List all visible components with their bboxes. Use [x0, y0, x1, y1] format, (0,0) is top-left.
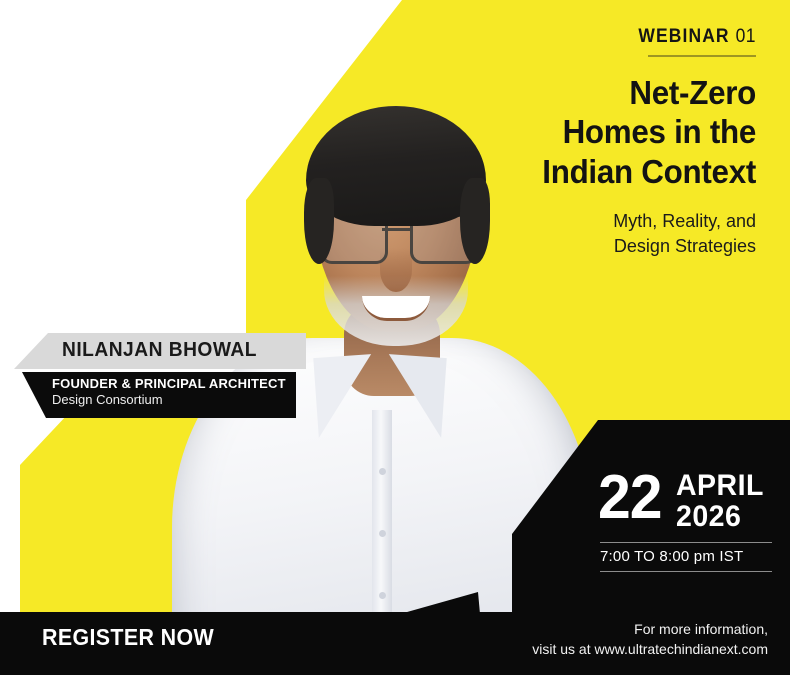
title-line-2: Homes in the — [443, 112, 757, 151]
subtitle-line-1: Myth, Reality, and — [426, 209, 756, 235]
speaker-name-banner: NILANJAN BHOWAL — [0, 333, 306, 369]
event-month-year: APRIL 2026 — [676, 472, 764, 533]
event-month: APRIL — [676, 472, 764, 501]
speaker-organisation: Design Consortium — [52, 392, 163, 407]
portrait-hair-side-left — [304, 178, 334, 264]
event-time: 7:00 TO 8:00 pm IST — [600, 548, 772, 565]
subtitle-line-2: Design Strategies — [426, 234, 756, 260]
portrait-shirt-placket — [372, 410, 392, 614]
portrait-shirt-button — [379, 468, 386, 475]
speaker-role-banner: FOUNDER & PRINCIPAL ARCHITECT Design Con… — [0, 372, 296, 418]
title-line-3: Indian Context — [443, 152, 757, 191]
webinar-poster: WEBINAR 01 Net-Zero Homes in the Indian … — [0, 0, 790, 675]
speaker-name: NILANJAN BHOWAL — [62, 339, 257, 362]
kicker-rule-divider — [648, 55, 756, 57]
website-url[interactable]: visit us at www.ultratechindianext.com — [532, 640, 768, 660]
event-day: 22 — [598, 472, 662, 524]
page-title: Net-Zero Homes in the Indian Context — [443, 73, 757, 191]
page-subtitle: Myth, Reality, and Design Strategies — [426, 209, 756, 260]
more-information-text: For more information, visit us at www.ul… — [532, 620, 768, 660]
more-info-line-1: For more information, — [532, 620, 768, 640]
portrait-shirt-button — [379, 592, 386, 599]
webinar-kicker: WEBINAR 01 — [452, 26, 756, 48]
headline-block: WEBINAR 01 Net-Zero Homes in the Indian … — [426, 26, 756, 260]
webinar-kicker-label: WEBINAR — [638, 26, 729, 47]
portrait-collar-left — [313, 354, 376, 438]
speaker-role: FOUNDER & PRINCIPAL ARCHITECT — [52, 376, 286, 391]
portrait-shirt-button — [379, 530, 386, 537]
webinar-kicker-number: 01 — [736, 26, 756, 47]
portrait-collar-right — [383, 354, 446, 438]
title-line-1: Net-Zero — [443, 73, 757, 112]
eyeglass-bridge — [382, 228, 412, 231]
event-time-wrapper: 7:00 TO 8:00 pm IST — [600, 542, 772, 572]
event-year: 2026 — [676, 501, 764, 533]
register-now-button[interactable]: REGISTER NOW — [42, 624, 214, 651]
event-date-row: 22 APRIL 2026 — [598, 472, 768, 533]
